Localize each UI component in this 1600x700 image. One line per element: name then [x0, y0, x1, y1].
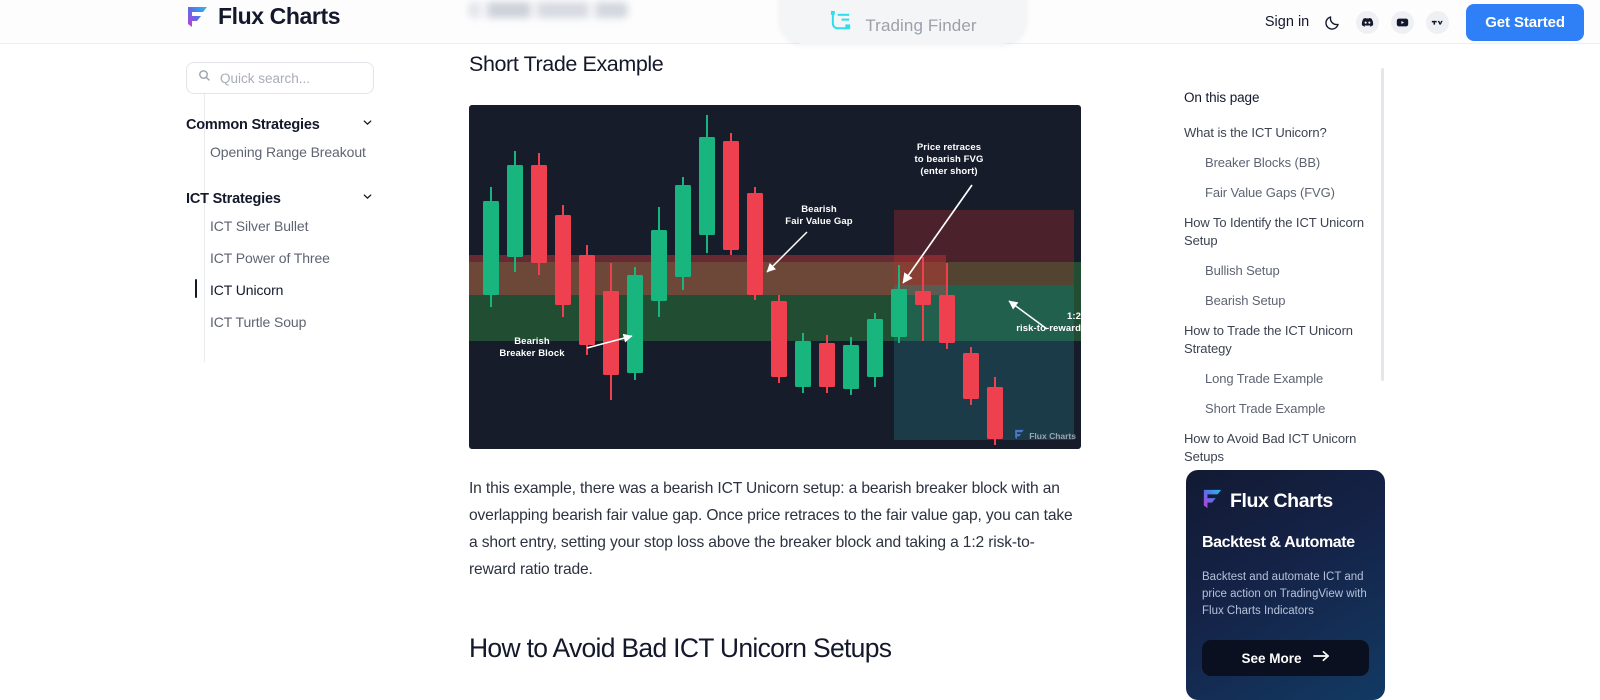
trading-finder-badge: Trading Finder — [779, 0, 1027, 44]
promo-body-text: Backtest and automate ICT and price acti… — [1202, 569, 1369, 620]
candlestick-chart-figure: BearishBreaker Block BearishFair Value G… — [469, 105, 1081, 449]
brand-logo-link[interactable]: Flux Charts — [186, 3, 340, 30]
get-started-button[interactable]: Get Started — [1466, 4, 1584, 41]
sidebar-group-items: ICT Silver Bullet ICT Power of Three ICT… — [186, 210, 391, 338]
sidebar-group-common-strategies: Common Strategies Opening Range Breakout — [186, 116, 391, 168]
sidebar-group-header[interactable]: ICT Strategies — [186, 190, 374, 207]
sidebar-group-ict-strategies: ICT Strategies ICT Silver Bullet ICT Pow… — [186, 190, 391, 338]
tradingview-icon[interactable] — [1426, 11, 1449, 34]
chart-watermark: Flux Charts — [1014, 427, 1076, 445]
trading-finder-label: Trading Finder — [865, 16, 976, 36]
promo-headline: Backtest & Automate — [1202, 534, 1369, 552]
watermark-label: Flux Charts — [1029, 431, 1076, 441]
toc-item-short-trade-example[interactable]: Short Trade Example — [1205, 400, 1364, 418]
page-scrollbar[interactable] — [1381, 68, 1384, 381]
sign-in-link[interactable]: Sign in — [1265, 14, 1309, 30]
page-heading-how-to-avoid: How to Avoid Bad ICT Unicorn Setups — [469, 633, 1084, 664]
trading-finder-logo-icon — [829, 9, 854, 36]
flux-charts-logo-icon — [1014, 427, 1025, 445]
promo-brand-name: Flux Charts — [1230, 490, 1333, 513]
sidebar-item-ict-turtle-soup[interactable]: ICT Turtle Soup — [186, 306, 391, 338]
quick-search-box[interactable] — [186, 62, 374, 94]
sidebar-group-items: Opening Range Breakout — [186, 136, 391, 168]
flux-charts-logo-icon — [1202, 488, 1223, 515]
youtube-icon[interactable] — [1391, 11, 1414, 34]
sidebar-group-header[interactable]: Common Strategies — [186, 116, 374, 133]
toc-item-breaker-blocks[interactable]: Breaker Blocks (BB) — [1205, 154, 1364, 172]
arrow-right-icon — [1313, 649, 1330, 667]
toc-item-how-to-identify[interactable]: How To Identify the ICT Unicorn Setup — [1184, 214, 1364, 250]
discord-icon[interactable] — [1356, 11, 1379, 34]
see-more-button[interactable]: See More — [1202, 640, 1369, 676]
search-icon — [198, 69, 211, 87]
toc-item-bearish-setup[interactable]: Bearish Setup — [1205, 292, 1364, 310]
promo-card[interactable]: Flux Charts Backtest & Automate Backtest… — [1186, 470, 1385, 700]
toc-item-bullish-setup[interactable]: Bullish Setup — [1205, 262, 1364, 280]
toc-item-long-trade-example[interactable]: Long Trade Example — [1205, 370, 1364, 388]
toc-item-fair-value-gaps[interactable]: Fair Value Gaps (FVG) — [1205, 184, 1364, 202]
toc-item-how-to-trade[interactable]: How to Trade the ICT Unicorn Strategy — [1184, 322, 1364, 358]
moon-icon[interactable] — [1321, 11, 1344, 34]
sidebar-item-ict-silver-bullet[interactable]: ICT Silver Bullet — [186, 210, 391, 242]
see-more-label: See More — [1241, 651, 1301, 666]
toc-item-what-is-ict-unicorn[interactable]: What is the ICT Unicorn? — [1184, 124, 1364, 142]
sidebar-item-ict-unicorn[interactable]: ICT Unicorn — [186, 274, 391, 306]
page-heading-short-trade-example: Short Trade Example — [469, 52, 1084, 77]
toc-title: On this page — [1184, 90, 1364, 105]
brand-name: Flux Charts — [218, 3, 340, 30]
sidebar-item-opening-range-breakout[interactable]: Opening Range Breakout — [186, 136, 391, 168]
left-sidebar: Common Strategies Opening Range Breakout… — [186, 62, 391, 338]
body-paragraph: In this example, there was a bearish ICT… — [469, 475, 1077, 583]
chevron-down-icon[interactable] — [361, 116, 374, 133]
chevron-down-icon[interactable] — [361, 190, 374, 207]
promo-brand: Flux Charts — [1202, 488, 1369, 515]
blurred-breadcrumb — [468, 2, 628, 18]
sidebar-item-ict-power-of-three[interactable]: ICT Power of Three — [186, 242, 391, 274]
flux-charts-logo-icon — [186, 5, 209, 29]
annotation-arrows — [469, 105, 1081, 449]
sidebar-group-label: Common Strategies — [186, 117, 320, 133]
toc-item-how-to-avoid[interactable]: How to Avoid Bad ICT Unicorn Setups — [1184, 430, 1364, 466]
quick-search-input[interactable] — [220, 71, 360, 86]
nav-actions: Sign in Get Started — [1265, 0, 1584, 44]
sidebar-group-label: ICT Strategies — [186, 191, 281, 207]
table-of-contents: On this page What is the ICT Unicorn? Br… — [1184, 90, 1364, 478]
main-content: Short Trade Example BearishBreaker Block… — [469, 52, 1084, 664]
